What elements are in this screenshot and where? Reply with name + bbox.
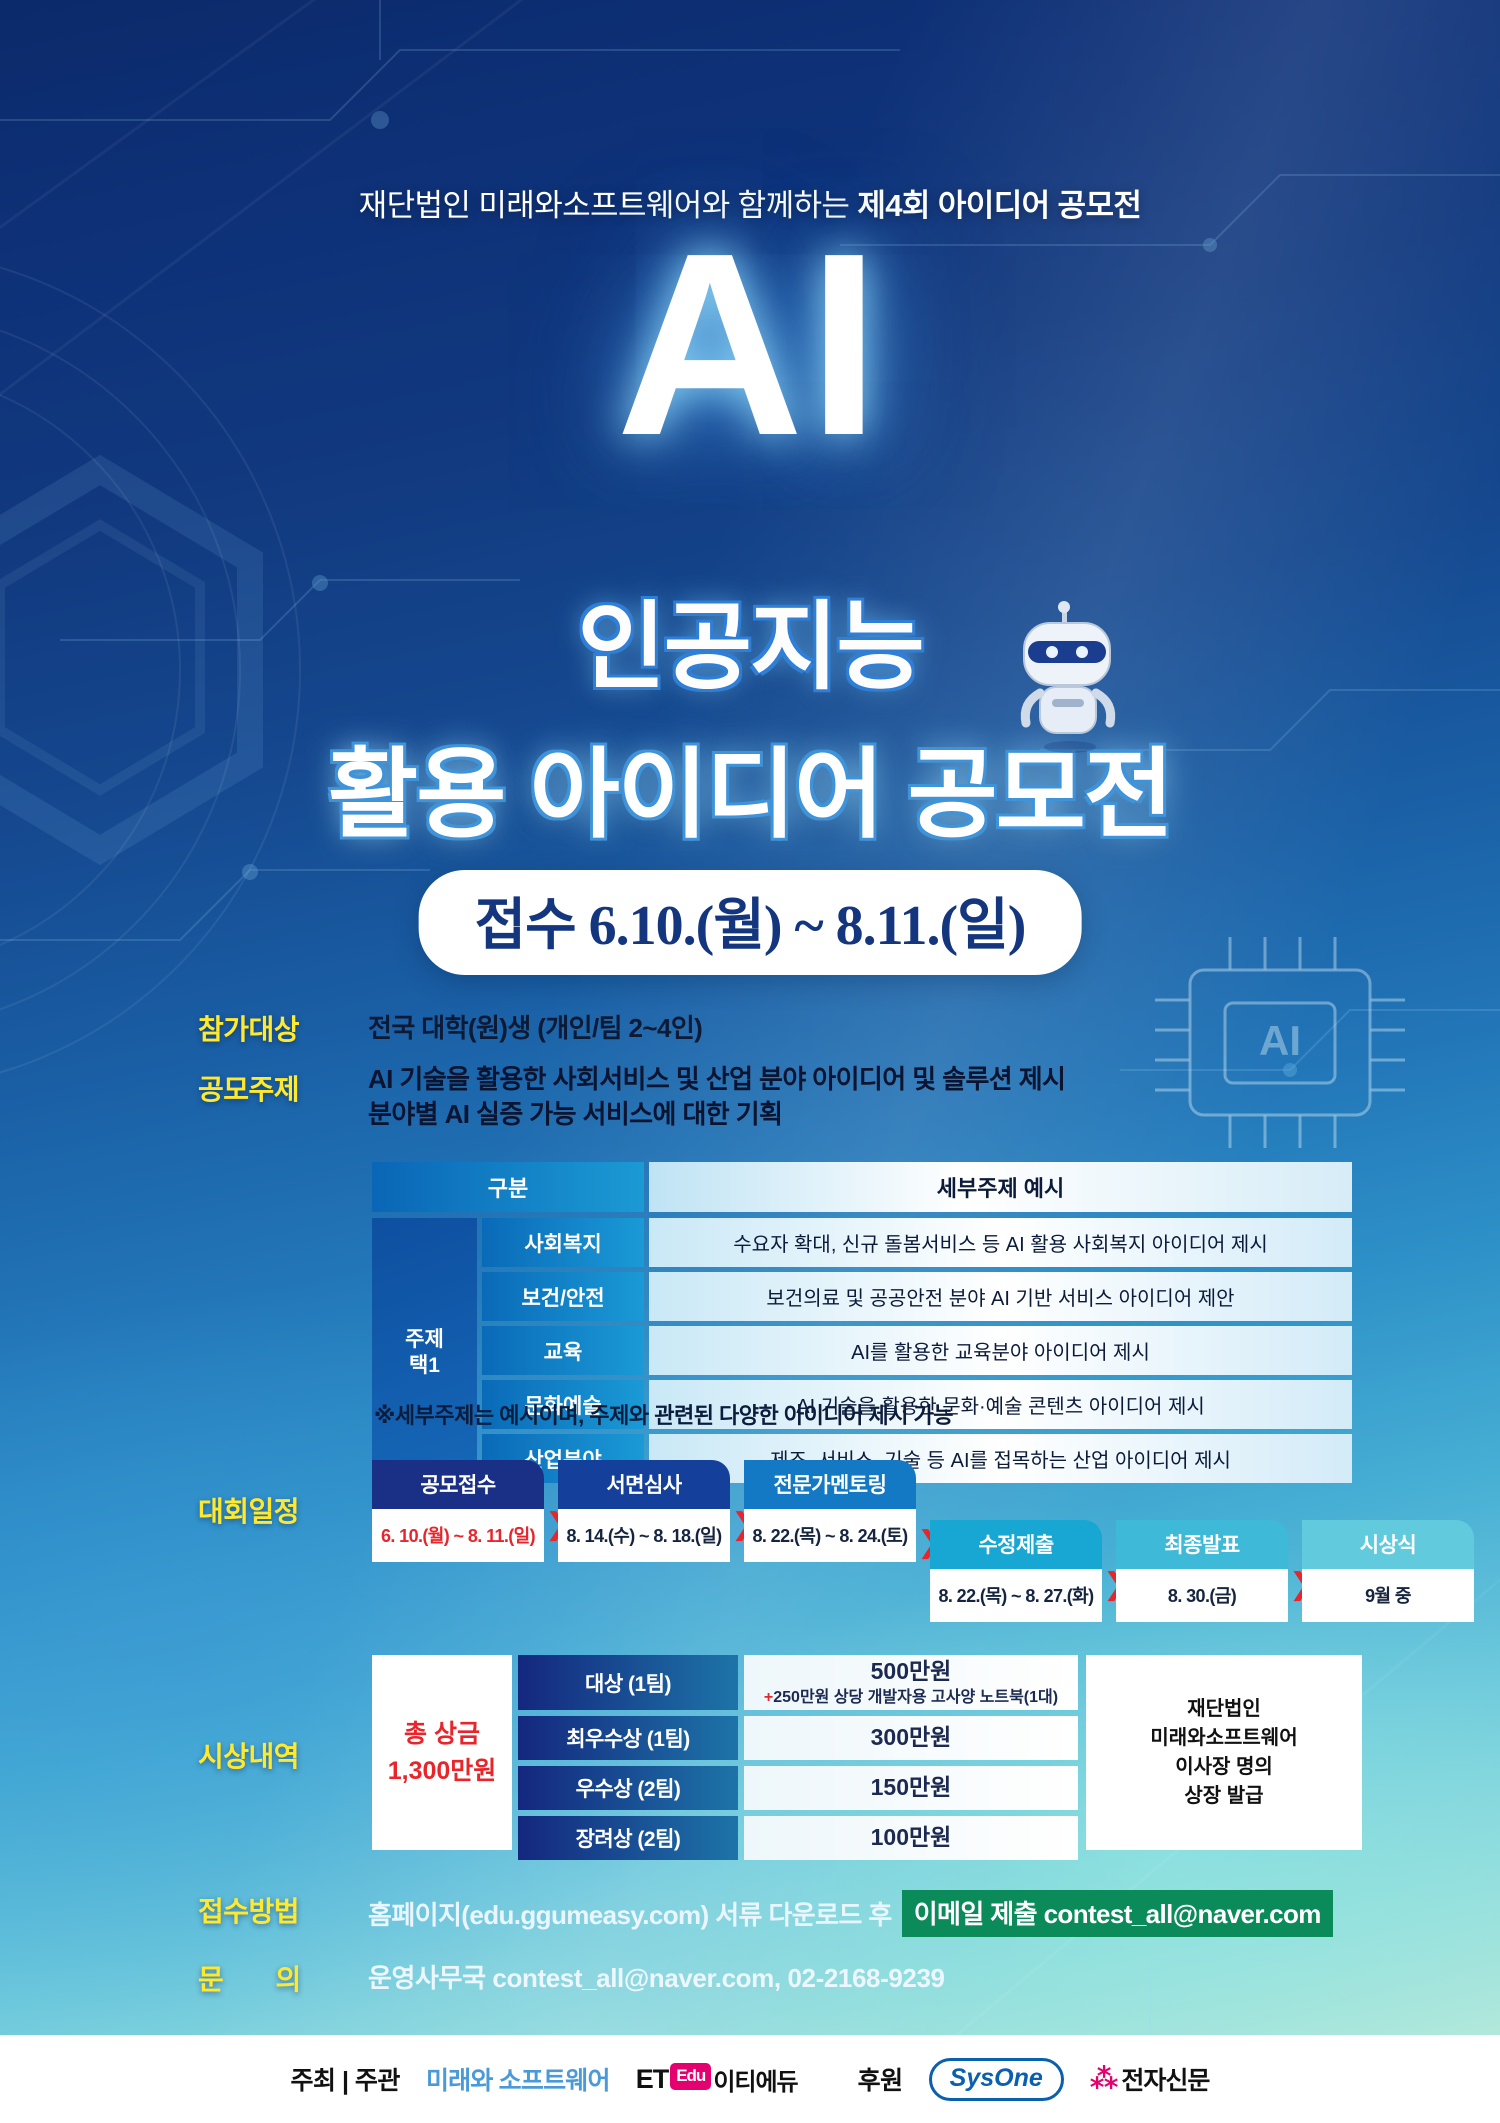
robot-mascot-icon: [1000, 595, 1140, 755]
svg-text:AI: AI: [1259, 1017, 1301, 1064]
footer-sponsor-label: 후원: [858, 2061, 903, 2097]
prize-row: 최우수상 (1팀)300만원: [518, 1716, 1078, 1760]
prize-amount-cell: 100만원: [744, 1816, 1078, 1860]
prize-certificate-text: 재단법인미래와소프트웨어이사장 명의상장 발급: [1150, 1695, 1297, 1811]
receipt-period-text: 접수 6.10.(월) ~ 8.11.(일): [475, 895, 1026, 957]
theme-note: ※세부주제는 예시이며, 주제와 관련된 다양한 아이디어 제시 가능: [374, 1398, 953, 1430]
schedule-stage-period: 8. 14.(수) ~ 8. 18.(일): [558, 1509, 730, 1562]
theme-group-label: 주제택1: [372, 1218, 477, 1488]
theme-desc-cell: AI를 활용한 교육분야 아이디어 제시: [649, 1326, 1352, 1375]
schedule-stage-period: 8. 22.(목) ~ 8. 27.(화): [930, 1569, 1102, 1622]
schedule-stage-period: 8. 22.(목) ~ 8. 24.(토): [744, 1509, 916, 1562]
prize-row: 장려상 (2팀)100만원: [518, 1816, 1078, 1860]
theme-category-cell: 사회복지: [482, 1218, 644, 1267]
prize-amount-cell: 300만원: [744, 1716, 1078, 1760]
theme-category-cell: 교육: [482, 1326, 644, 1375]
theme-header-left: 구분: [372, 1162, 644, 1212]
label-schedule: 대회일정: [198, 1490, 299, 1530]
schedule-timeline: 공모접수6. 10.(월) ~ 8. 11.(일)❯서면심사8. 14.(수) …: [372, 1460, 1362, 1630]
prize-total-label: 총 상금: [404, 1716, 480, 1752]
schedule-stage: 최종발표8. 30.(금): [1116, 1520, 1288, 1622]
schedule-stage-name: 시상식: [1302, 1520, 1474, 1569]
prize-amount: 100만원: [871, 1824, 952, 1852]
theme-group-label-text: 주제택1: [405, 1327, 444, 1380]
theme-line-1: AI 기술을 활용한 사회서비스 및 산업 분야 아이디어 및 솔루션 제시: [368, 1062, 1065, 1097]
page-title-line2: 활용 아이디어 공모전: [0, 745, 1500, 843]
prize-name: 우수상 (2팀): [518, 1766, 738, 1810]
footer-logo-miraewa-software: 미래와 소프트웨어: [426, 2061, 610, 2097]
schedule-stage: 서면심사8. 14.(수) ~ 8. 18.(일): [558, 1460, 730, 1562]
schedule-stage: 전문가멘토링8. 22.(목) ~ 8. 24.(토): [744, 1460, 916, 1562]
poster-root: AI 재단법인 미래와소프트웨어와 함께하는 제4회 아이디어 공모전 AI 인…: [0, 0, 1500, 2123]
schedule-stage-name: 전문가멘토링: [744, 1460, 916, 1509]
label-prizes: 시상내역: [198, 1735, 299, 1775]
prize-amount: 150만원: [871, 1774, 952, 1802]
ai-chip-icon: AI: [1115, 925, 1445, 1160]
theme-line-2: 분야별 AI 실증 가능 서비스에 대한 기획: [368, 1097, 1065, 1132]
prize-name: 최우수상 (1팀): [518, 1716, 738, 1760]
footer-host-label: 주최 | 주관: [291, 2061, 400, 2097]
label-contact: 문 의: [198, 1958, 323, 1998]
table-row: 사회복지수요자 확대, 신규 돌봄서비스 등 AI 활용 사회복지 아이디어 제…: [482, 1218, 1352, 1267]
label-theme: 공모주제: [198, 1068, 299, 1108]
schedule-stage-period: 8. 30.(금): [1116, 1569, 1288, 1622]
table-row: 교육AI를 활용한 교육분야 아이디어 제시: [482, 1326, 1352, 1375]
schedule-stage-name: 공모접수: [372, 1460, 544, 1509]
text-theme: AI 기술을 활용한 사회서비스 및 산업 분야 아이디어 및 솔루션 제시 분…: [368, 1062, 1065, 1132]
etedu-badge: Edu: [670, 2063, 711, 2090]
schedule-stage-name: 수정제출: [930, 1520, 1102, 1569]
prize-certificate-box: 재단법인미래와소프트웨어이사장 명의상장 발급: [1086, 1655, 1362, 1850]
schedule-stage-name: 최종발표: [1116, 1520, 1288, 1569]
apply-method-plain: 홈페이지(edu.ggumeasy.com) 서류 다운로드 후: [368, 1895, 892, 1932]
etnews-text: 전자신문: [1121, 2061, 1209, 2097]
schedule-stage-period: 9월 중: [1302, 1569, 1474, 1622]
schedule-stage-period: 6. 10.(월) ~ 8. 11.(일): [372, 1509, 544, 1562]
etnews-mark-icon: ⁂: [1090, 2065, 1118, 2093]
etedu-korean-text: 이티에듀: [713, 2062, 797, 2097]
prize-amount: 500만원: [871, 1658, 952, 1686]
prize-name: 장려상 (2팀): [518, 1816, 738, 1860]
prize-total-amount: 1,300만원: [388, 1753, 497, 1789]
text-target: 전국 대학(원)생 (개인/팀 2~4인): [368, 1008, 702, 1045]
table-row: 보건/안전보건의료 및 공공안전 분야 AI 기반 서비스 아이디어 제안: [482, 1272, 1352, 1321]
label-target: 참가대상: [198, 1008, 299, 1048]
apply-email-highlight[interactable]: 이메일 제출 contest_all@naver.com: [902, 1890, 1333, 1937]
receipt-period-pill: 접수 6.10.(월) ~ 8.11.(일): [419, 870, 1082, 975]
prize-row: 대상 (1팀)500만원+250만원 상당 개발자용 고사양 노트북(1대): [518, 1655, 1078, 1710]
footer-logo-etedu: ET Edu 이티에듀: [636, 2062, 798, 2097]
prize-name: 대상 (1팀): [518, 1655, 738, 1710]
label-apply-method: 접수방법: [198, 1890, 299, 1930]
prize-total-box: 총 상금 1,300만원: [372, 1655, 512, 1850]
page-subtitle-korean: 인공지능: [0, 600, 1500, 696]
page-title-ai: AI: [0, 215, 1500, 475]
prize-amount: 300만원: [871, 1724, 952, 1752]
prize-rows: 대상 (1팀)500만원+250만원 상당 개발자용 고사양 노트북(1대)최우…: [518, 1655, 1078, 1850]
theme-table-header: 구분 세부주제 예시: [372, 1162, 1352, 1212]
theme-desc-cell: 수요자 확대, 신규 돌봄서비스 등 AI 활용 사회복지 아이디어 제시: [649, 1218, 1352, 1267]
schedule-stage: 수정제출8. 22.(목) ~ 8. 27.(화): [930, 1520, 1102, 1622]
prize-bonus: +250만원 상당 개발자용 고사양 노트북(1대): [764, 1688, 1058, 1707]
theme-table: 구분 세부주제 예시 주제택1 사회복지수요자 확대, 신규 돌봄서비스 등 A…: [372, 1162, 1352, 1488]
footer-logo-etnews: ⁂ 전자신문: [1090, 2061, 1210, 2097]
prize-amount-cell: 500만원+250만원 상당 개발자용 고사양 노트북(1대): [744, 1655, 1078, 1710]
schedule-stage: 시상식9월 중: [1302, 1520, 1474, 1622]
theme-table-body: 사회복지수요자 확대, 신규 돌봄서비스 등 AI 활용 사회복지 아이디어 제…: [482, 1218, 1352, 1488]
prize-amount-cell: 150만원: [744, 1766, 1078, 1810]
footer-bar: 주최 | 주관 미래와 소프트웨어 ET Edu 이티에듀 후원 SysOne …: [0, 2035, 1500, 2123]
theme-category-cell: 보건/안전: [482, 1272, 644, 1321]
footer-logo-sysone: SysOne: [929, 2058, 1064, 2101]
contact-text[interactable]: 운영사무국 contest_all@naver.com, 02-2168-923…: [368, 1958, 945, 1995]
apply-method-text: 홈페이지(edu.ggumeasy.com) 서류 다운로드 후 이메일 제출 …: [368, 1890, 1333, 1937]
theme-desc-cell: 보건의료 및 공공안전 분야 AI 기반 서비스 아이디어 제안: [649, 1272, 1352, 1321]
schedule-stage: 공모접수6. 10.(월) ~ 8. 11.(일): [372, 1460, 544, 1562]
theme-header-right: 세부주제 예시: [649, 1162, 1352, 1212]
etedu-et-text: ET: [636, 2064, 669, 2095]
prize-table: 총 상금 1,300만원 대상 (1팀)500만원+250만원 상당 개발자용 …: [372, 1655, 1362, 1850]
schedule-stage-name: 서면심사: [558, 1460, 730, 1509]
prize-row: 우수상 (2팀)150만원: [518, 1766, 1078, 1810]
